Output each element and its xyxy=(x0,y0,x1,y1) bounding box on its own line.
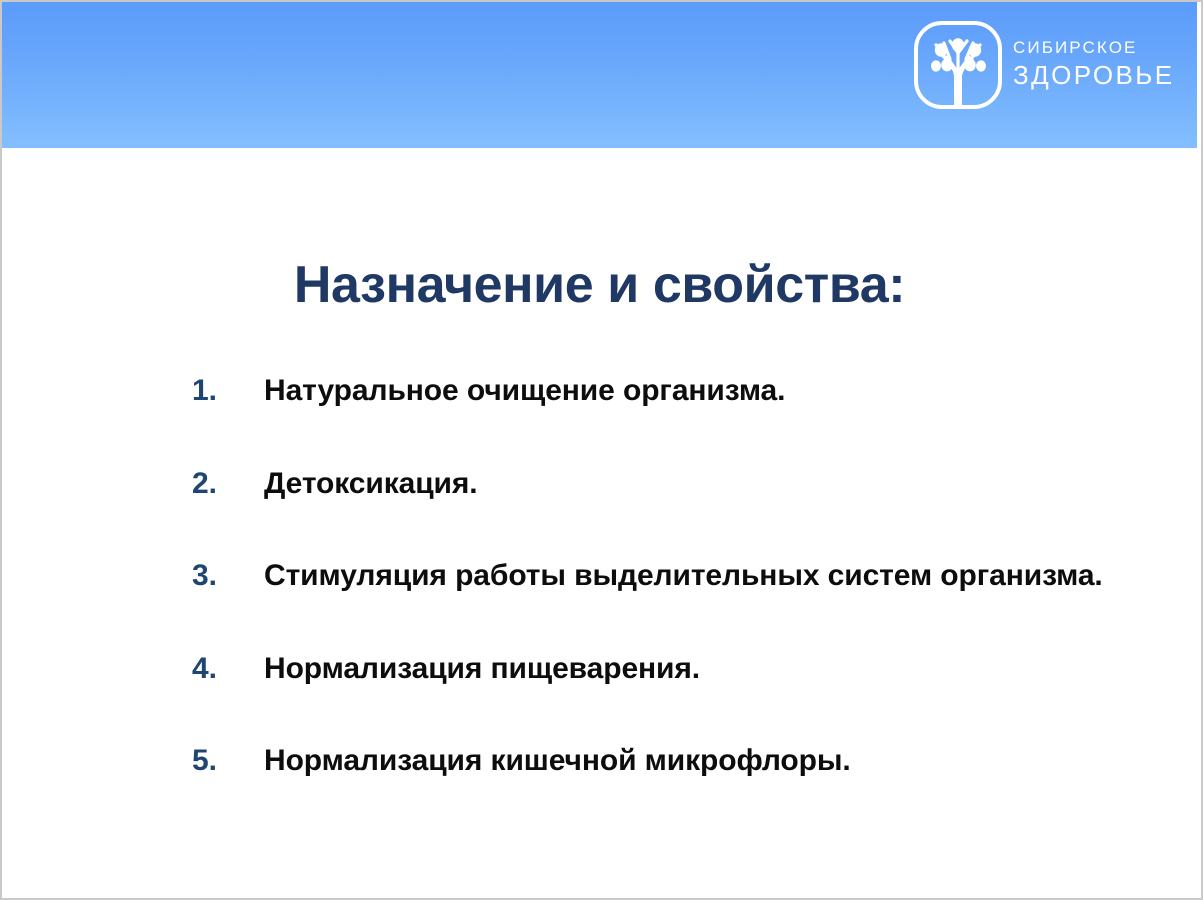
list-item-label: Стимуляция работы выделительных систем о… xyxy=(264,555,1152,598)
list-item-label: Нормализация пищеварения. xyxy=(264,648,1152,691)
list-item: 3. Стимуляция работы выделительных систе… xyxy=(192,555,1152,598)
tree-logo-icon xyxy=(914,21,1002,109)
list-item-number: 2. xyxy=(192,463,264,506)
list-item: 2. Детоксикация. xyxy=(192,463,1152,506)
brand-word-top: СИБИРСКОЕ xyxy=(1013,39,1174,56)
brand-wordmark: СИБИРСКОЕ ЗДОРОВЬЕ xyxy=(1013,39,1174,92)
brand-logo: СИБИРСКОЕ ЗДОРОВЬЕ xyxy=(914,19,1176,111)
list-item: 1. Натуральное очищение организма. xyxy=(192,370,1152,413)
list-item: 5. Нормализация кишечной микрофлоры. xyxy=(192,740,1152,783)
list-item-number: 4. xyxy=(192,648,264,691)
list-item: 4. Нормализация пищеварения. xyxy=(192,648,1152,691)
list-item-number: 1. xyxy=(192,370,264,413)
list-item-number: 3. xyxy=(192,555,264,598)
list-item-number: 5. xyxy=(192,740,264,783)
list-item-label: Нормализация кишечной микрофлоры. xyxy=(264,740,1152,783)
brand-word-bottom: ЗДОРОВЬЕ xyxy=(1013,62,1174,88)
list-item-label: Детоксикация. xyxy=(264,463,1152,506)
page-title: Назначение и свойства: xyxy=(2,255,1197,315)
presentation-slide: СИБИРСКОЕ ЗДОРОВЬЕ Назначение и свойства… xyxy=(0,0,1203,900)
properties-list: 1. Натуральное очищение организма. 2. Де… xyxy=(152,370,1152,783)
list-item-label: Натуральное очищение организма. xyxy=(264,370,1152,413)
